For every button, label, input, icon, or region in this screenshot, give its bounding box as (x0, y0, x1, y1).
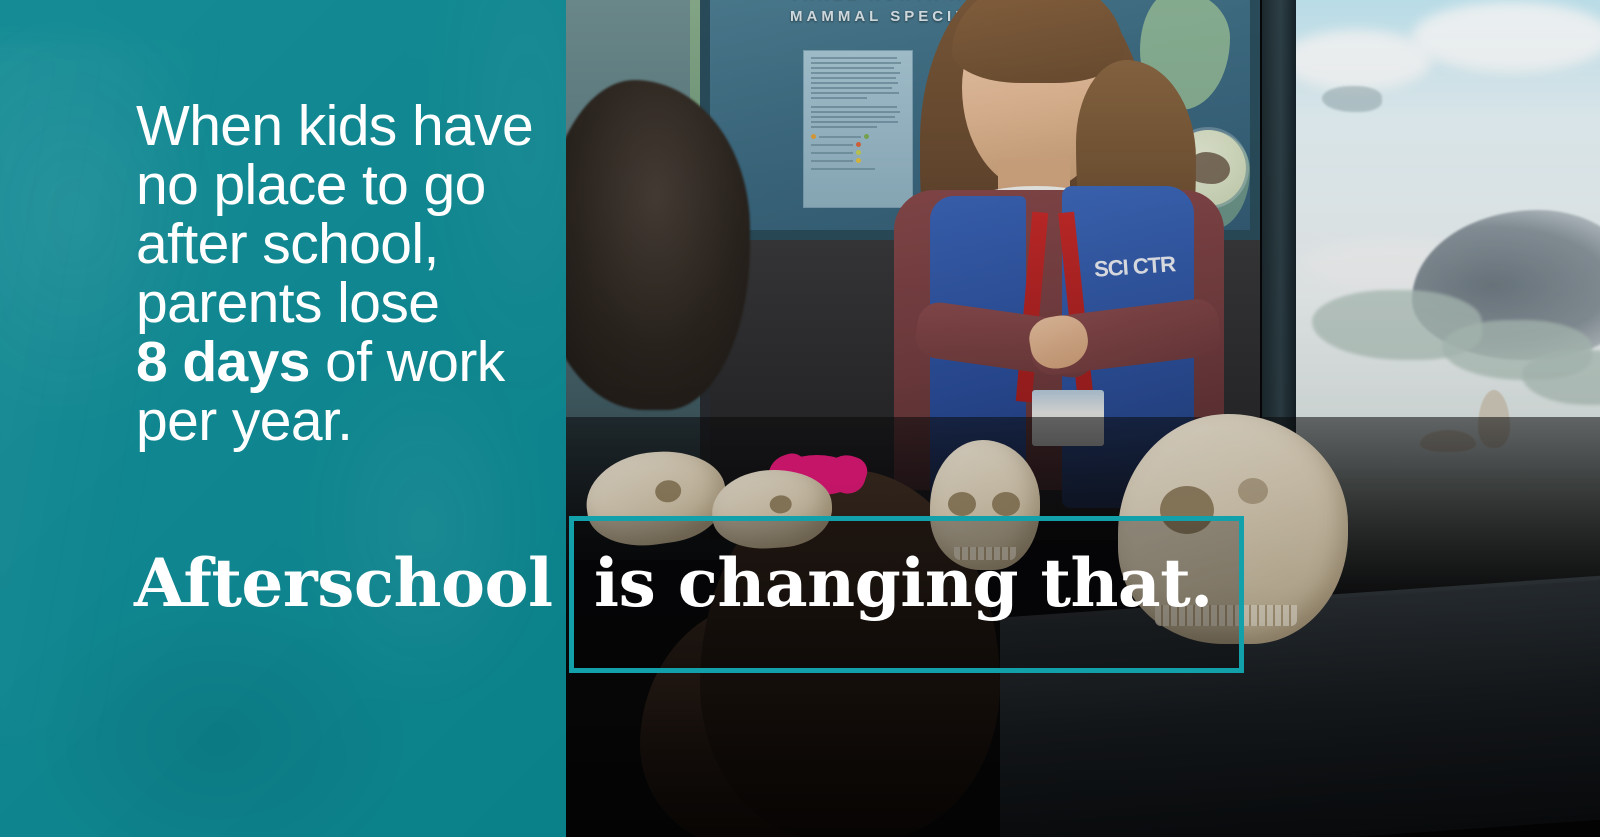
distant-animal-figure (1322, 86, 1382, 112)
hair-front (952, 0, 1124, 83)
poster: THREE NORTH AMERICAN MAMMAL SPECIES (0, 0, 1600, 837)
headline-line-1: When kids have (136, 94, 533, 158)
headline-line-4: parents lose (136, 271, 439, 335)
headline-stat-bold: 8 days (136, 330, 310, 394)
headline-line-2: no place to go (136, 153, 486, 217)
headline-line-5-rest: of work (310, 330, 505, 394)
muskox-mount (540, 80, 750, 410)
callout-text: is changing that. (594, 528, 1234, 638)
headline-statistic: When kids have no place to go after scho… (136, 97, 556, 451)
headline-line-6: per year. (136, 389, 352, 453)
headline-line-3: after school, (136, 212, 439, 276)
vest-logo: SCI CTR (1094, 255, 1176, 278)
